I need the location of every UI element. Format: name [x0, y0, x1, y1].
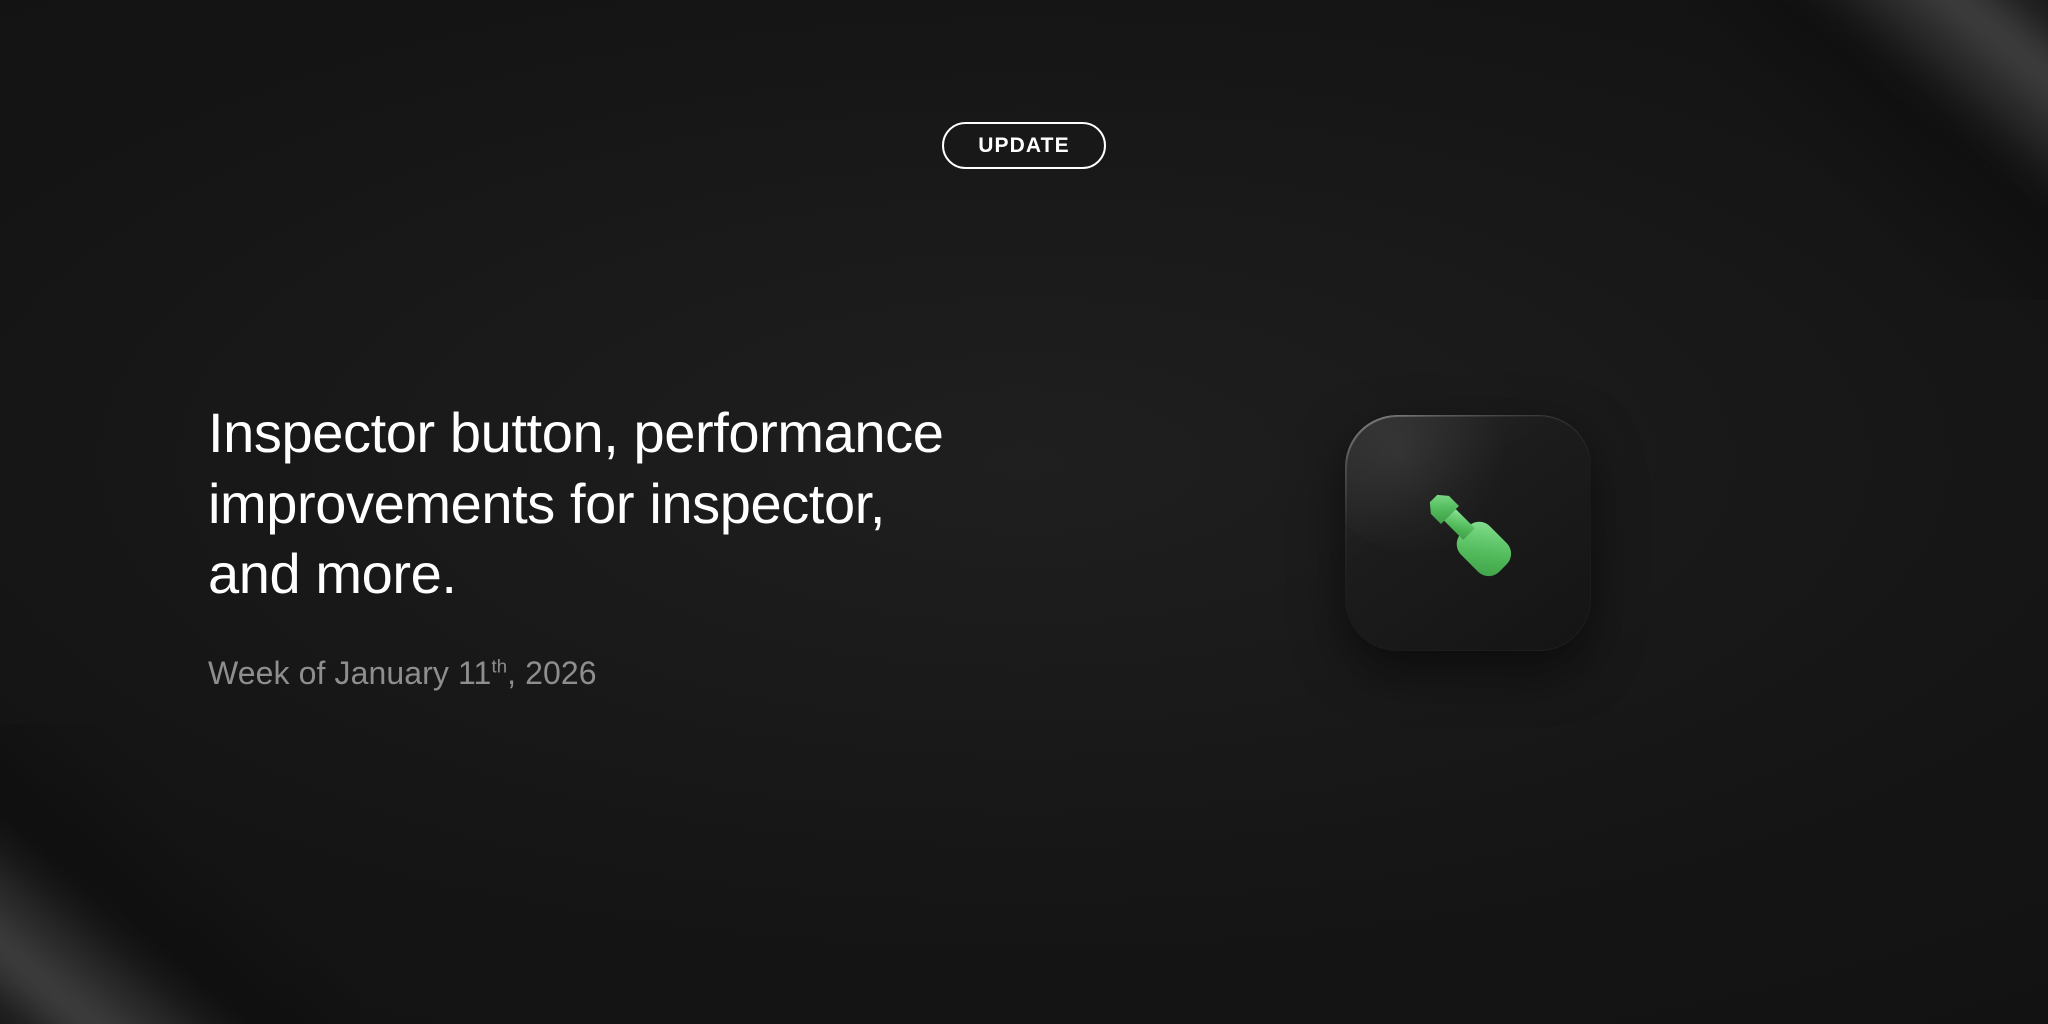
release-date: Week of January 11th, 2026 [208, 654, 1128, 692]
badge-row: UPDATE [0, 122, 2048, 169]
hero-text-block: Inspector button, performance improvemen… [208, 398, 1128, 692]
release-date-ordinal: th [491, 655, 507, 676]
page-title: Inspector button, performance improvemen… [208, 398, 1128, 610]
icon-card [1345, 415, 1591, 651]
update-badge[interactable]: UPDATE [942, 122, 1105, 169]
chisel-tool-icon [1393, 458, 1543, 608]
release-date-prefix: Week of January 11 [208, 655, 491, 691]
content-root: UPDATE Inspector button, performance imp… [0, 0, 2048, 1024]
icon-card-wrapper [1345, 415, 1591, 651]
release-date-suffix: , 2026 [507, 655, 597, 691]
